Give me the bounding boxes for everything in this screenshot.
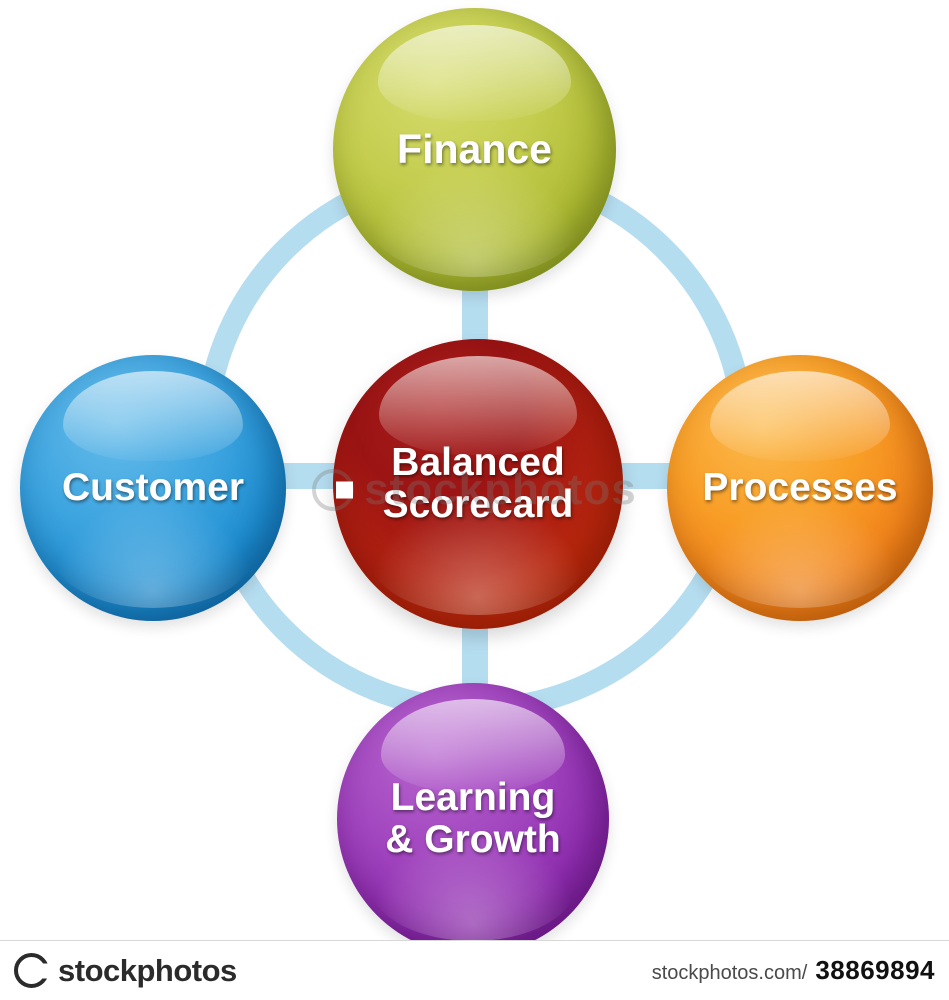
footer-domain: stockphotos.com/ — [652, 962, 808, 985]
footer-logo: stockphotos — [14, 953, 237, 989]
node-learning-and-growth[interactable]: Learning & Growth — [337, 683, 609, 955]
node-finance[interactable]: Finance — [333, 8, 616, 291]
node-balanced-scorecard-center[interactable]: Balanced Scorecard — [333, 339, 623, 629]
footer-image-id: 38869894 — [815, 955, 935, 986]
node-learning-and-growth-label: Learning & Growth — [377, 777, 568, 861]
balanced-scorecard-diagram: Finance Customer Processes Learning & Gr… — [0, 0, 949, 940]
node-finance-label: Finance — [389, 127, 560, 171]
stockphotos-circle-icon — [14, 953, 49, 988]
footer-bar: stockphotos stockphotos.com/ 38869894 — [0, 940, 949, 1000]
node-center-label: Balanced Scorecard — [375, 442, 582, 526]
footer-credit: stockphotos.com/ 38869894 — [652, 955, 935, 986]
footer-logo-text: stockphotos — [58, 953, 237, 989]
node-customer-label: Customer — [54, 467, 252, 509]
node-processes[interactable]: Processes — [667, 355, 933, 621]
node-processes-label: Processes — [694, 467, 905, 509]
node-customer[interactable]: Customer — [20, 355, 286, 621]
